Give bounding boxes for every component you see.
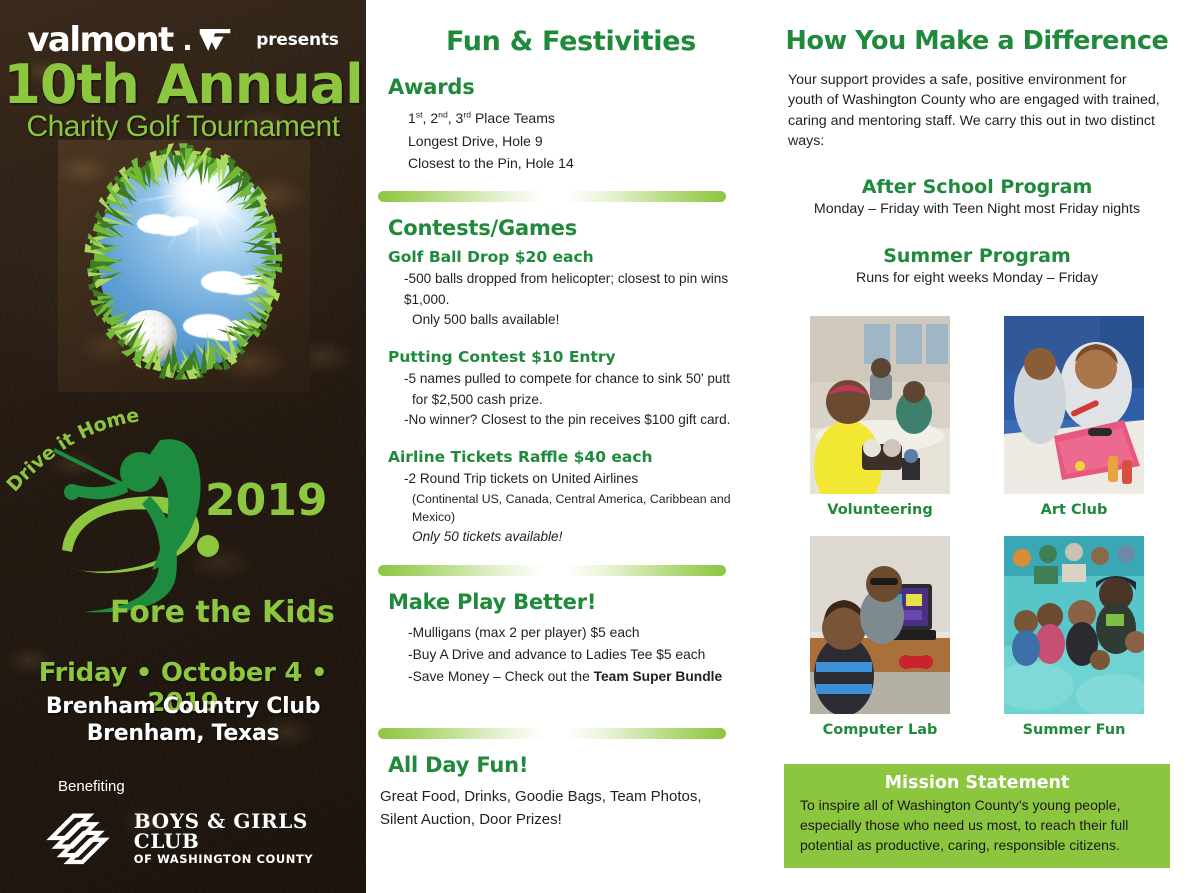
contest-block: Golf Ball Drop $20 each -500 balls dropp… [366,248,776,331]
contest-title: Putting Contest $10 Entry [388,348,776,366]
contests-heading: Contests/Games [388,216,776,240]
presents-label: presents [256,30,338,50]
logo-bottom-text: Fore the Kids [110,595,335,630]
mpb-item-text: -Save Money – Check out the [408,669,594,684]
contest-line: -No winner? Closest to the pin receives … [394,410,776,431]
right-column: How You Make a Difference Your support p… [776,0,1188,893]
how-you-make-a-difference-title: How You Make a Difference [776,26,1178,56]
mpb-item-bold: Team Super Bundle [594,669,723,684]
photo-cell: Volunteering [810,316,950,518]
computer-lab-photo [810,536,950,714]
contest-line: $1,000. [394,290,776,311]
all-day-fun-heading: All Day Fun! [388,753,776,777]
contest-line: -2 Round Trip tickets on United Airlines [394,469,776,490]
program-heading: Summer Program [776,245,1178,267]
intro-paragraph: Your support provides a safe, positive e… [788,70,1164,152]
contest-line: Only 500 balls available! [394,310,776,331]
mission-statement-box: Mission Statement To inspire all of Wash… [784,764,1170,869]
program-subtext: Monday – Friday with Teen Night most Fri… [776,201,1178,217]
beneficiary-subname: OF WASHINGTON COUNTY [134,854,346,866]
contest-lines: -5 names pulled to compete for chance to… [394,369,776,431]
all-day-fun-line: Silent Auction, Door Prizes! [380,808,776,831]
contest-line: Only 50 tickets available! [394,527,776,548]
mission-statement-heading: Mission Statement [800,773,1154,793]
section-divider [378,728,726,739]
photo-caption: Volunteering [810,502,950,518]
contest-block: Putting Contest $10 Entry -5 names pulle… [366,348,776,431]
beneficiary-name: BOYS & GIRLS CLUB [134,811,346,851]
all-day-fun-line: Great Food, Drinks, Goodie Bags, Team Ph… [380,785,776,808]
program-heading: After School Program [776,176,1178,198]
contest-line: -500 balls dropped from helicopter; clos… [394,269,776,290]
all-day-fun-text: Great Food, Drinks, Goodie Bags, Team Ph… [380,785,776,832]
mission-statement-body: To inspire all of Washington County's yo… [800,796,1154,856]
contest-line: for $2,500 cash prize. [394,390,776,411]
mpb-item: -Buy A Drive and advance to Ladies Tee $… [394,644,776,666]
volunteering-photo [810,316,950,494]
section-divider [378,191,726,202]
contest-block: Airline Tickets Raffle $40 each -2 Round… [366,448,776,548]
art-club-photo [1004,316,1144,494]
photo-caption: Art Club [1004,502,1144,518]
event-title-main: 10th Annual [0,58,366,112]
venue-name: Brenham Country Club [0,694,366,721]
photo-caption: Summer Fun [1004,722,1144,738]
boys-girls-club-hands-icon [36,802,122,874]
photo-cell: Summer Fun [1004,536,1144,738]
contest-title: Golf Ball Drop $20 each [388,248,776,266]
make-play-better-list: -Mulligans (max 2 per player) $5 each -B… [394,622,776,688]
event-venue: Brenham Country Club Brenham, Texas [0,694,366,748]
summer-fun-photo [1004,536,1144,714]
golf-hole-photo [58,140,310,392]
valmont-logo-wordmark: valmont [27,23,173,57]
tournament-logo: Drive it Home 2019 Fore the Kids [0,400,366,635]
photo-cell: Computer Lab [810,536,950,738]
contest-line: (Continental US, Canada, Central America… [394,490,776,527]
award-item: 1st, 2nd, 3rd Place Teams [408,107,776,130]
program-block: After School Program Monday – Friday wit… [776,176,1178,217]
award-item: Longest Drive, Hole 9 [408,130,776,153]
grass-fringe [58,140,310,392]
mpb-item: -Mulligans (max 2 per player) $5 each [394,622,776,644]
contest-title: Airline Tickets Raffle $40 each [388,448,776,466]
mpb-item: -Save Money – Check out the Team Super B… [394,666,776,688]
logo-year: 2019 [205,475,327,526]
photo-cell: Art Club [1004,316,1144,518]
award-item: Closest to the Pin, Hole 14 [408,152,776,175]
valmont-v-icon [198,25,232,55]
middle-column: Fun & Festivities Awards 1st, 2nd, 3rd P… [366,0,776,893]
contest-lines: -2 Round Trip tickets on United Airlines… [394,469,776,548]
awards-list: 1st, 2nd, 3rd Place Teams Longest Drive,… [408,107,776,175]
benefiting-label: Benefiting [58,778,125,795]
contest-lines: -500 balls dropped from helicopter; clos… [394,269,776,331]
beneficiary-logo-block: BOYS & GIRLS CLUB OF WASHINGTON COUNTY [36,800,346,876]
program-subtext: Runs for eight weeks Monday – Friday [776,270,1178,286]
photo-grid: Volunteering [776,316,1178,738]
left-hero-panel: valmont. presents 10th Annual Charity Go… [0,0,366,893]
photo-caption: Computer Lab [810,722,950,738]
event-title-sub: Charity Golf Tournament [0,112,366,142]
make-play-better-heading: Make Play Better! [388,590,776,614]
section-divider [378,565,726,576]
program-block: Summer Program Runs for eight weeks Mond… [776,245,1178,286]
awards-heading: Awards [388,75,776,99]
flyer-page: valmont. presents 10th Annual Charity Go… [0,0,1188,893]
contest-line: -5 names pulled to compete for chance to… [394,369,776,390]
fun-festivities-title: Fun & Festivities [366,26,776,57]
venue-city: Brenham, Texas [0,721,366,748]
